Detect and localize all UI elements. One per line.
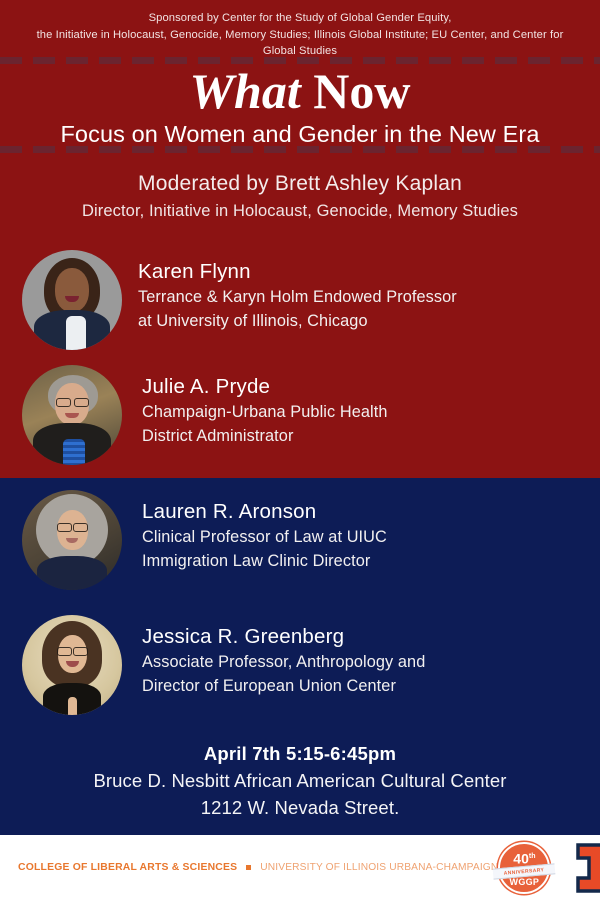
dashed-divider-bottom xyxy=(0,146,600,153)
event-datetime: April 7th 5:15-6:45pm xyxy=(0,740,600,767)
avatar xyxy=(22,490,122,590)
speaker-title-line-1: Associate Professor, Anthropology and xyxy=(142,650,425,674)
portrait-julie-pryde xyxy=(22,365,122,465)
event-poster: Sponsored by Center for the Study of Glo… xyxy=(0,0,600,900)
university-name: UNIVERSITY OF ILLINOIS URBANA-CHAMPAIGN xyxy=(260,862,498,873)
moderator-block: Moderated by Brett Ashley Kaplan Directo… xyxy=(0,170,600,224)
speaker-entry: Jessica R. Greenberg Associate Professor… xyxy=(22,615,425,715)
speaker-text: Karen Flynn Terrance & Karyn Holm Endowe… xyxy=(122,250,457,333)
speaker-text: Julie A. Pryde Champaign-Urbana Public H… xyxy=(122,365,388,448)
badge-ordinal: th xyxy=(529,853,536,860)
event-details: April 7th 5:15-6:45pm Bruce D. Nesbitt A… xyxy=(0,740,600,821)
footer: COLLEGE OF LIBERAL ARTS & SCIENCES UNIVE… xyxy=(0,835,600,900)
speaker-title-line-2: at University of Illinois, Chicago xyxy=(138,309,457,333)
speaker-title-line-1: Clinical Professor of Law at UIUC xyxy=(142,525,387,549)
moderator-role: Director, Initiative in Holocaust, Genoc… xyxy=(0,198,600,224)
speaker-title-line-2: Immigration Law Clinic Director xyxy=(142,549,387,573)
speaker-name: Karen Flynn xyxy=(138,258,457,285)
sponsor-line-2: the Initiative in Holocaust, Genocide, M… xyxy=(22,27,578,44)
sponsor-line-1: Sponsored by Center for the Study of Glo… xyxy=(22,10,578,27)
wggp-40th-anniversary-badge-icon: 40th ANNIVERSARY WGGP xyxy=(498,842,550,894)
title-word-what: What xyxy=(190,63,301,119)
title-word-now: Now xyxy=(313,63,410,119)
separator-dot-icon xyxy=(246,865,251,870)
portrait-jessica-greenberg xyxy=(22,615,122,715)
event-address: 1212 W. Nevada Street. xyxy=(0,794,600,821)
badge-program-text: WGGP xyxy=(498,877,550,887)
footer-wordmark: COLLEGE OF LIBERAL ARTS & SCIENCES UNIVE… xyxy=(0,862,498,873)
speaker-entry: Julie A. Pryde Champaign-Urbana Public H… xyxy=(22,365,388,465)
moderator-name: Moderated by Brett Ashley Kaplan xyxy=(0,170,600,198)
badge-ribbon-text: ANNIVERSARY xyxy=(504,866,545,876)
title-block: What Now Focus on Women and Gender in th… xyxy=(0,64,600,148)
avatar xyxy=(22,250,122,350)
college-name: COLLEGE OF LIBERAL ARTS & SCIENCES xyxy=(18,862,237,873)
sponsor-text: Sponsored by Center for the Study of Glo… xyxy=(0,0,600,60)
page-subtitle: Focus on Women and Gender in the New Era xyxy=(0,120,600,148)
speaker-title-line-1: Terrance & Karyn Holm Endowed Professor xyxy=(138,285,457,309)
footer-logos: 40th ANNIVERSARY WGGP xyxy=(498,842,600,894)
speaker-title-line-2: Director of European Union Center xyxy=(142,674,425,698)
avatar xyxy=(22,615,122,715)
speaker-name: Julie A. Pryde xyxy=(142,373,388,400)
portrait-lauren-aronson xyxy=(22,490,122,590)
speaker-name: Lauren R. Aronson xyxy=(142,498,387,525)
illinois-block-i-logo-icon xyxy=(576,843,600,893)
event-venue: Bruce D. Nesbitt African American Cultur… xyxy=(0,767,600,794)
avatar xyxy=(22,365,122,465)
speaker-title-line-1: Champaign-Urbana Public Health xyxy=(142,400,388,424)
speaker-entry: Lauren R. Aronson Clinical Professor of … xyxy=(22,490,387,590)
speaker-title-line-2: District Administrator xyxy=(142,424,388,448)
speaker-text: Jessica R. Greenberg Associate Professor… xyxy=(122,615,425,698)
speaker-text: Lauren R. Aronson Clinical Professor of … xyxy=(122,490,387,573)
speaker-entry: Karen Flynn Terrance & Karyn Holm Endowe… xyxy=(22,250,457,350)
speaker-name: Jessica R. Greenberg xyxy=(142,623,425,650)
portrait-karen-flynn xyxy=(22,250,122,350)
page-title: What Now xyxy=(0,64,600,118)
badge-number: 40 xyxy=(513,850,529,866)
